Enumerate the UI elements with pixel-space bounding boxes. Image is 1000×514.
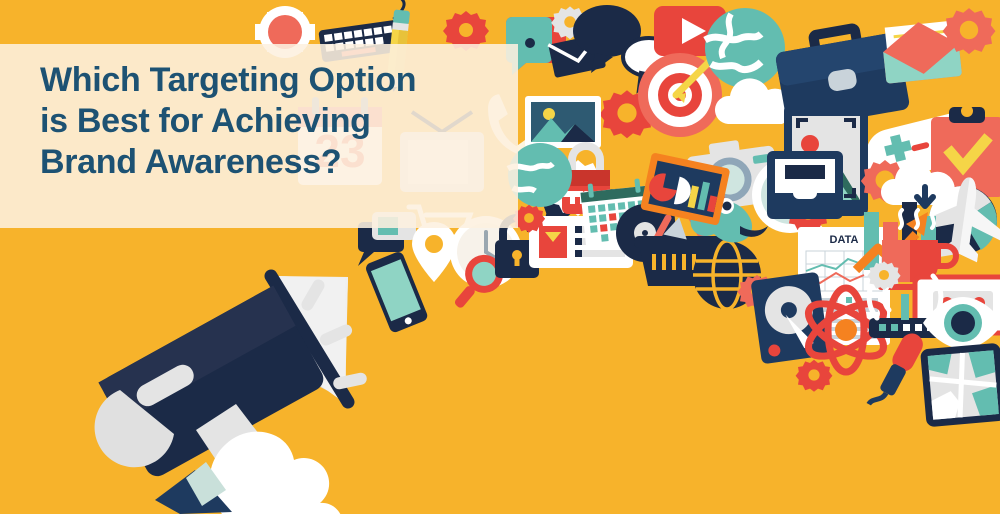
page-title: Which Targeting Option is Best for Achie… — [40, 60, 510, 183]
headline-panel: Which Targeting Option is Best for Achie… — [0, 44, 518, 228]
page-title-line-2: is Best for Achieving — [40, 101, 510, 142]
page-title-line-1: Which Targeting Option — [40, 60, 510, 101]
infographic-banner: 23 — [0, 0, 1000, 514]
page-title-line-3: Brand Awareness? — [40, 142, 510, 183]
